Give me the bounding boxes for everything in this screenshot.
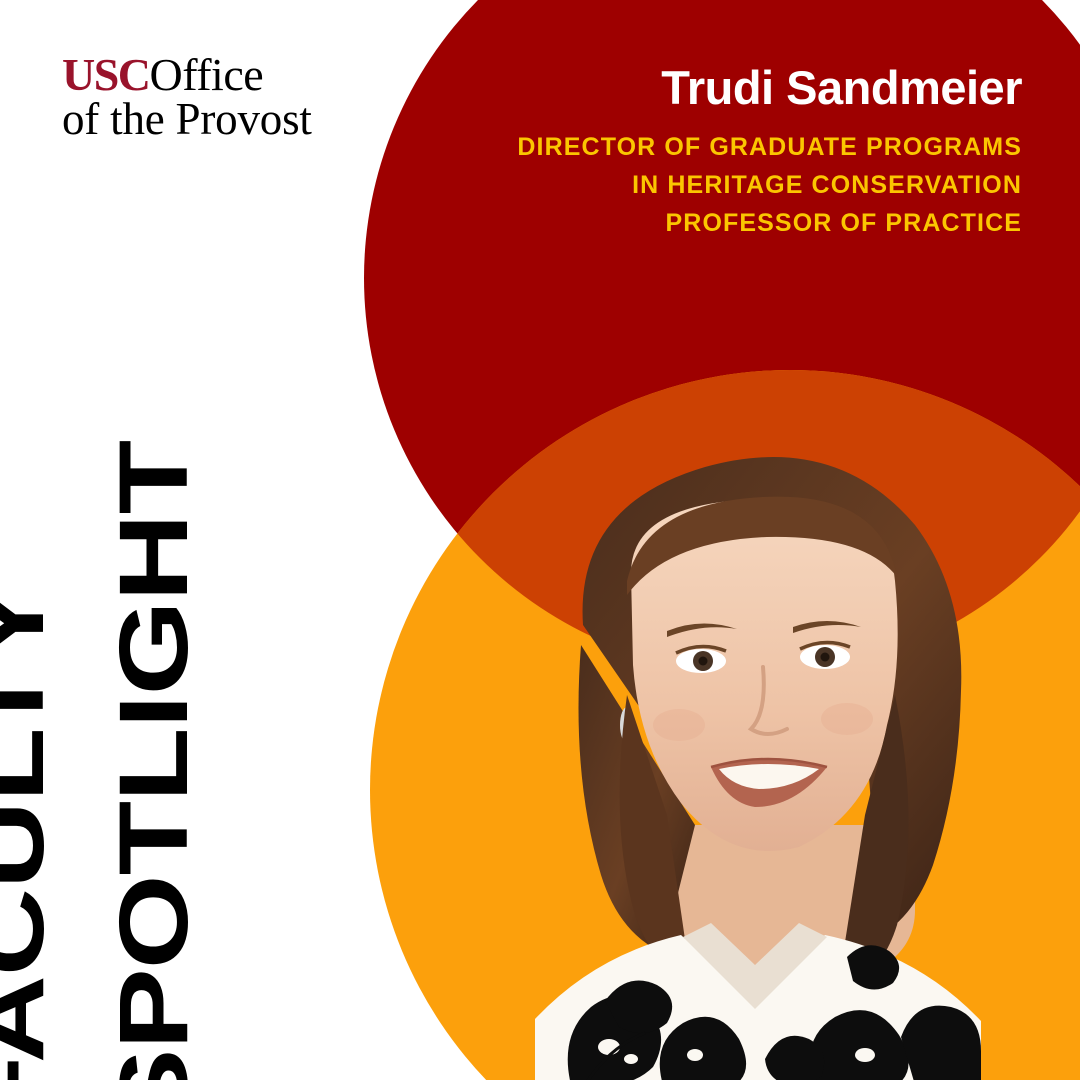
logo-line-1: USCOffice	[62, 52, 312, 97]
portrait-photo	[395, 395, 1080, 1080]
person-title-line-1: DIRECTOR OF GRADUATE PROGRAMS	[382, 128, 1022, 166]
person-title-line-3: PROFESSOR OF PRACTICE	[382, 204, 1022, 242]
person-title-line-2: IN HERITAGE CONSERVATION	[382, 166, 1022, 204]
person-name: Trudi Sandmeier	[382, 62, 1022, 114]
faculty-spotlight-poster: USCOffice of the Provost FACULTY SPOTLIG…	[0, 0, 1080, 1080]
logo-line-2: of the Provost	[62, 97, 312, 141]
usc-office-of-the-provost-logo: USCOffice of the Provost	[62, 52, 312, 141]
person-info-block: Trudi Sandmeier DIRECTOR OF GRADUATE PRO…	[382, 62, 1022, 242]
logo-office-word: Office	[150, 49, 264, 100]
logo-usc-wordmark: USC	[62, 49, 150, 100]
